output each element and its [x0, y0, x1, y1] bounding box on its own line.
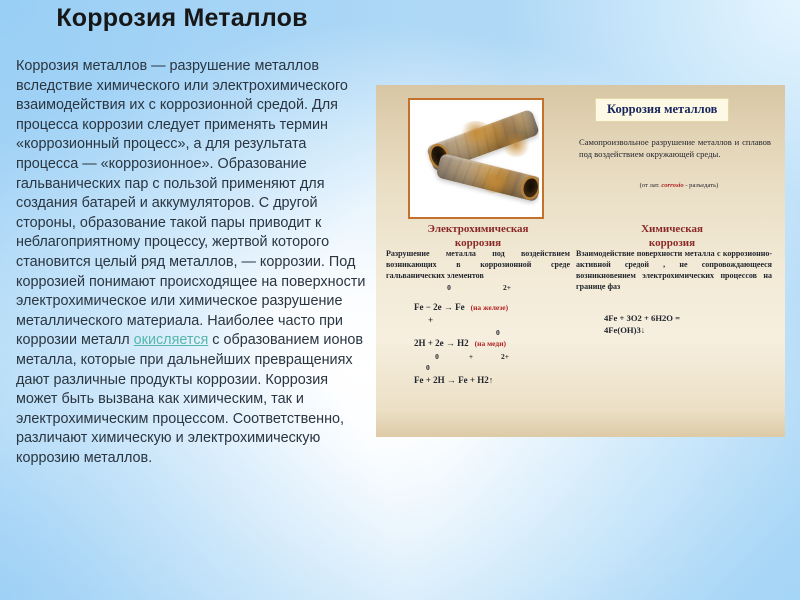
panel-title: Коррозия металлов [595, 98, 729, 122]
charge-0-a: 0 [420, 283, 478, 292]
charge-0-b: 0 [496, 328, 500, 337]
equation-text: Fe − 2e → Fe [414, 302, 465, 312]
body-text-part2: с образованием ионов металла, которые пр… [16, 332, 363, 466]
charge-2plus-a: 2+ [478, 283, 536, 292]
pipe-mouth-lower [522, 177, 539, 199]
heading-line-1: Электрохимическая [388, 222, 568, 236]
corroded-pipes-photo [408, 98, 544, 219]
equation-rust-line2: 4Fe(OH)3↓ [604, 324, 772, 336]
heading-line-1: Химическая [572, 222, 772, 236]
equation-note: (на железе) [471, 303, 509, 312]
equation-overall: Fe + 2H → Fe + H2↑ [414, 374, 570, 386]
slide-canvas: Коррозия Металлов Коррозия металлов — ра… [0, 0, 800, 600]
equation-iron-oxidation: Fe − 2e → Fe(на железе) [414, 301, 570, 314]
figure-panel: Коррозия металлов Самопроизвольное разру… [376, 85, 785, 437]
equation-hydrogen-reduction: 2H + 2e → H2(на меди) [414, 337, 570, 350]
equation-note: (на меди) [475, 339, 506, 348]
photo-inner [413, 103, 539, 214]
etymology-latin-word: corrosio [661, 182, 683, 189]
column-electrochemical: Разрушение металла под воздействием возн… [386, 248, 570, 386]
charge-row-upper-0: 0 [414, 328, 570, 337]
page-title: Коррозия Металлов [0, 4, 364, 33]
chemical-formula-block: 4Fe + 3O2 + 6H2O = 4Fe(OH)3↓ [604, 312, 772, 336]
etymology-suffix: - разъедать) [684, 182, 719, 189]
etymology-prefix: (от лат. [640, 182, 662, 189]
oxidation-hyperlink[interactable]: окисляется [134, 332, 209, 348]
equation-rust-line1: 4Fe + 3O2 + 6H2O = [604, 312, 772, 324]
heading-chemical-corrosion: Химическая коррозия [572, 222, 772, 250]
equation-text: Fe + 2H → Fe + H2↑ [414, 375, 493, 385]
charge-0-c: 0 [420, 352, 454, 361]
charge-row-3: 0 [414, 363, 570, 372]
charge-2plus-c: 2+ [488, 352, 522, 361]
panel-etymology: (от лат. corrosio - разъедать) [586, 182, 772, 189]
heading-electrochemical-corrosion: Электрохимическая коррозия [388, 222, 568, 250]
body-text-part1: Коррозия металлов — разрушение металлов … [16, 58, 365, 348]
chemical-description: Взаимодействие поверхности металла с кор… [576, 248, 772, 292]
pipe-lower-shape [436, 153, 539, 202]
panel-definition: Самопроизвольное разрушение металлов и с… [579, 137, 771, 160]
equation-text: 2H + 2e → H2 [414, 338, 469, 348]
electrochemical-description: Разрушение металла под воздействием возн… [386, 248, 570, 281]
charge-row-1: 0 2+ [386, 283, 570, 292]
column-chemical: Взаимодействие поверхности металла с кор… [576, 248, 772, 336]
equation-plus-sign: + [414, 314, 570, 326]
equation-text: + [428, 315, 433, 325]
charge-row-2: 0 + 2+ [414, 352, 570, 361]
body-paragraph: Коррозия металлов — разрушение металлов … [16, 57, 368, 468]
charge-plus-c: + [454, 352, 488, 361]
charge-0-d: 0 [426, 363, 430, 372]
